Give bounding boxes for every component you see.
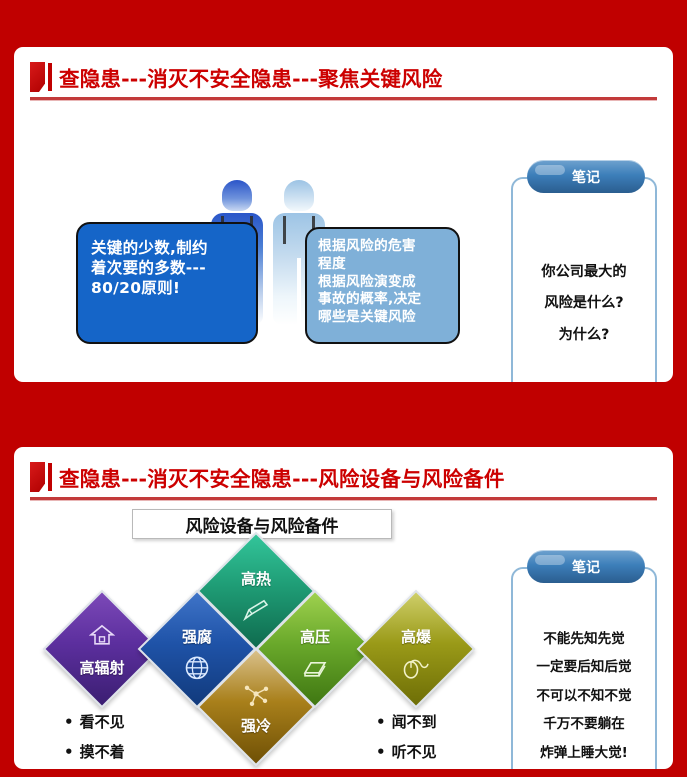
- slide-2-body: 风险设备与风险备件 高辐射 高热: [14, 505, 673, 769]
- slide-2: 查隐患---消灭不安全隐患---风险设备与风险备件 风险设备与风险备件 高辐射: [14, 447, 673, 769]
- slide-1: 查隐患---消灭不安全隐患---聚焦关键风险: [14, 47, 673, 382]
- diamond-label-high-radiation: 高辐射: [60, 610, 144, 694]
- bullet-left-2: 摸不着: [64, 737, 125, 767]
- risk-basis-box: 根据风险的危害 程度 根据风险演变成 事故的概率,决定 哪些是关键风险: [305, 227, 460, 344]
- slide-1-title-row: 查隐患---消灭不安全隐患---聚焦关键风险: [14, 59, 673, 95]
- basis-line-4: 事故的概率,决定: [318, 291, 447, 309]
- title-divider: [48, 463, 52, 491]
- notes-2-line-1: 不能先知先觉: [543, 626, 625, 653]
- notes-body-2: 不能先知先觉 一定要后知后觉 不可以不知不觉 千万不要躺在 炸弹上睡大觉!: [513, 593, 655, 769]
- notes-body-1: 你公司最大的 风险是什么? 为什么?: [513, 203, 655, 382]
- bullet-right-1: 闻不到: [376, 707, 437, 737]
- flag-icon: [30, 462, 45, 492]
- bullet-left-1: 看不见: [64, 707, 125, 737]
- notes-1-line-3: 为什么?: [559, 321, 610, 350]
- notes-panel-2: 笔记 不能先知先觉 一定要后知后觉 不可以不知不觉 千万不要躺在 炸弹上睡大觉!…: [511, 567, 657, 769]
- title-divider: [48, 63, 52, 91]
- risk-diamond-diagram: 高辐射 高热 强腐: [14, 539, 484, 769]
- slide-1-title: 查隐患---消灭不安全隐患---聚焦关键风险: [59, 62, 442, 92]
- bullets-right: 闻不到 听不见: [376, 707, 437, 767]
- notes-2-line-4: 千万不要躺在: [543, 711, 625, 738]
- key-line-1: 关键的少数,制约: [91, 238, 243, 258]
- diamond-label-strong-cold: 强冷: [214, 668, 298, 752]
- bullets-left: 看不见 摸不着: [64, 707, 125, 767]
- key-minority-box: 关键的少数,制约 着次要的多数--- 80/20原则!: [76, 222, 258, 344]
- key-line-2: 着次要的多数---: [91, 258, 243, 278]
- slide-1-title-underline: [30, 97, 657, 100]
- basis-line-2: 程度: [318, 256, 447, 274]
- slide-2-title: 查隐患---消灭不安全隐患---风险设备与风险备件: [59, 462, 505, 492]
- subtitle-box: 风险设备与风险备件: [132, 509, 392, 539]
- diamond-high-explosion[interactable]: 高爆: [357, 590, 476, 709]
- basis-line-3: 根据风险演变成: [318, 274, 447, 292]
- notes-header-2: 笔记: [527, 550, 645, 583]
- slide-deck-page: 查隐患---消灭不安全隐患---聚焦关键风险: [0, 0, 687, 777]
- person-arm-left: [283, 216, 286, 244]
- notes-2-line-2: 一定要后知后觉: [536, 654, 631, 681]
- person-head: [284, 180, 314, 211]
- basis-line-1: 根据风险的危害: [318, 238, 447, 256]
- notes-1-line-1: 你公司最大的: [541, 258, 626, 287]
- bullet-right-2: 听不见: [376, 737, 437, 767]
- notes-2-line-3: 不可以不知不觉: [536, 683, 631, 710]
- slide-1-body: 关键的少数,制约 着次要的多数--- 80/20原则! 根据风险的危害 程度 根…: [14, 105, 673, 382]
- bottom-label-taste: 尝不到: [210, 767, 306, 769]
- notes-panel-1: 笔记 你公司最大的 风险是什么? 为什么? 言安: [511, 177, 657, 382]
- diamond-label-high-explosion: 高爆: [374, 610, 458, 694]
- notes-header-1: 笔记: [527, 160, 645, 193]
- basis-line-5: 哪些是关键风险: [318, 309, 447, 327]
- slide-2-title-row: 查隐患---消灭不安全隐患---风险设备与风险备件: [14, 459, 673, 495]
- person-head: [222, 180, 252, 211]
- flag-icon: [30, 62, 45, 92]
- slide-2-title-underline: [30, 497, 657, 500]
- notes-1-line-2: 风险是什么?: [544, 289, 623, 318]
- person-leg-split: [297, 258, 301, 325]
- notes-2-line-5: 炸弹上睡大觉!: [540, 740, 628, 767]
- key-line-3: 80/20原则!: [91, 278, 243, 298]
